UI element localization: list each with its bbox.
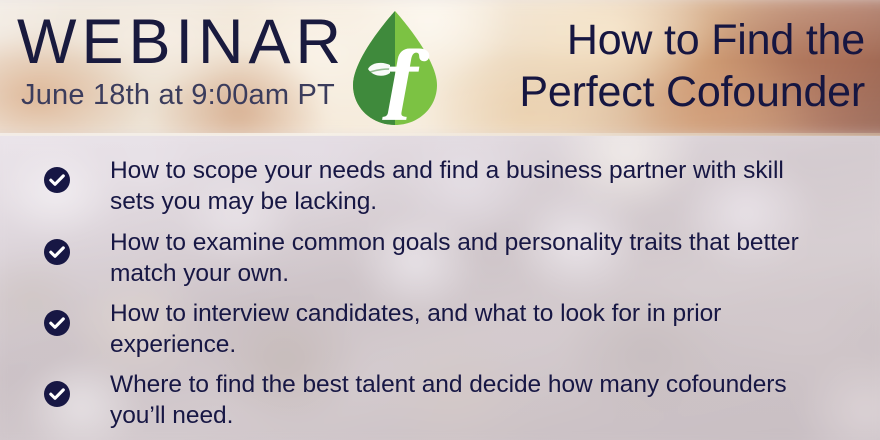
list-item: How to interview candidates, and what to…: [44, 298, 834, 360]
list-item: How to examine common goals and personal…: [44, 227, 834, 289]
title-line-1: How to Find the: [455, 14, 865, 66]
list-item: Where to find the best talent and decide…: [44, 369, 834, 431]
title-line-2: Perfect Cofounder: [455, 66, 865, 118]
check-circle-icon: [44, 167, 70, 193]
webinar-promo-banner: WEBINAR June 18th at 9:00am PT: [0, 0, 880, 440]
banner-header: WEBINAR June 18th at 9:00am PT: [0, 0, 880, 135]
check-circle-icon: [44, 381, 70, 407]
webinar-datetime: June 18th at 9:00am PT: [21, 80, 335, 110]
webinar-eyebrow: WEBINAR: [17, 11, 346, 74]
bullet-list: How to scope your needs and find a busin…: [0, 136, 880, 440]
check-circle-icon: [44, 310, 70, 336]
list-item: How to scope your needs and find a busin…: [44, 155, 834, 217]
list-item-text: How to scope your needs and find a busin…: [110, 155, 834, 217]
list-item-text: How to examine common goals and personal…: [110, 227, 834, 289]
banner-body: How to scope your needs and find a busin…: [0, 136, 880, 440]
leaf-droplet-logo: [349, 9, 441, 127]
list-item-text: Where to find the best talent and decide…: [110, 369, 834, 431]
list-item-text: How to interview candidates, and what to…: [110, 298, 834, 360]
webinar-title: How to Find the Perfect Cofounder: [455, 14, 865, 118]
check-circle-icon: [44, 239, 70, 265]
